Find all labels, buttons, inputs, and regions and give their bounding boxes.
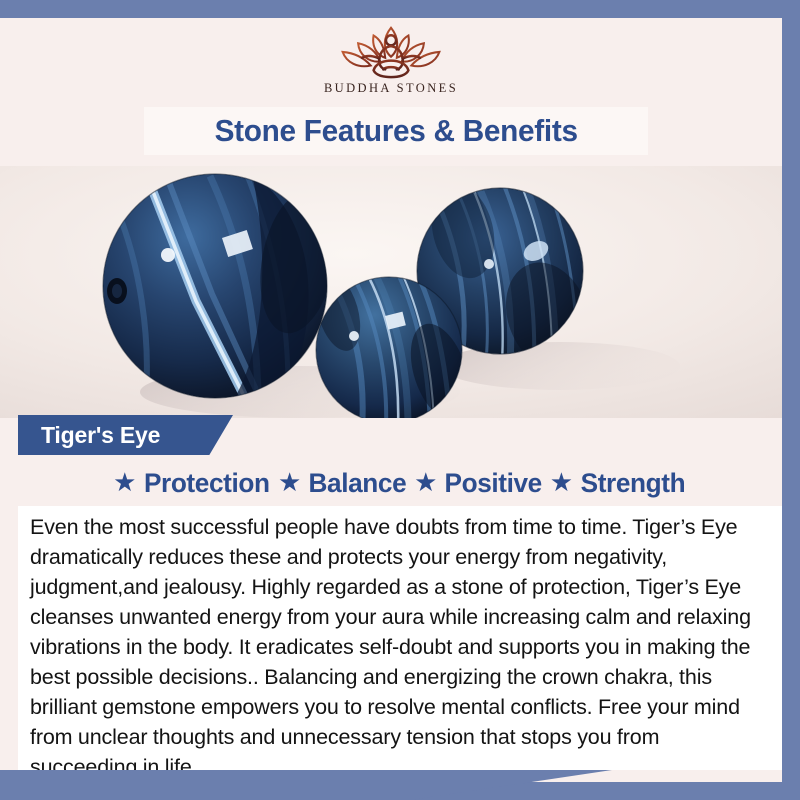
gemstone-illustration [0,166,782,418]
benefits-row: ★ Protection ★ Balance ★ Positive ★ Stre… [18,463,782,503]
gemstone-photo [0,166,782,418]
stone-name: Tiger's Eye [18,422,160,449]
benefit-label: Protection [144,468,270,499]
description-text: Even the most successful people have dou… [18,506,782,782]
benefit-label: Positive [445,468,542,499]
benefit-strength: ★ Strength [550,468,687,499]
title-banner: Stone Features & Benefits [144,107,648,155]
benefit-label: Balance [309,468,407,499]
star-icon: ★ [113,469,136,495]
benefit-label: Strength [581,468,686,499]
stone-name-banner: Tiger's Eye [18,415,233,455]
benefit-positive: ★ Positive [414,468,544,499]
page-title: Stone Features & Benefits [214,113,577,149]
page-frame: BUDDHA STONES Stone Features & Benefits [0,0,800,800]
star-icon: ★ [278,469,301,495]
bottom-accent-band [0,770,612,800]
star-icon: ★ [550,469,573,495]
benefit-balance: ★ Balance [278,468,408,499]
star-icon: ★ [414,469,437,495]
description-panel: Even the most successful people have dou… [18,506,782,770]
brand-wordmark: BUDDHA STONES [324,81,458,96]
benefit-protection: ★ Protection [113,468,272,499]
lotus-meditation-icon [328,20,454,80]
brand-logo: BUDDHA STONES [0,18,782,104]
